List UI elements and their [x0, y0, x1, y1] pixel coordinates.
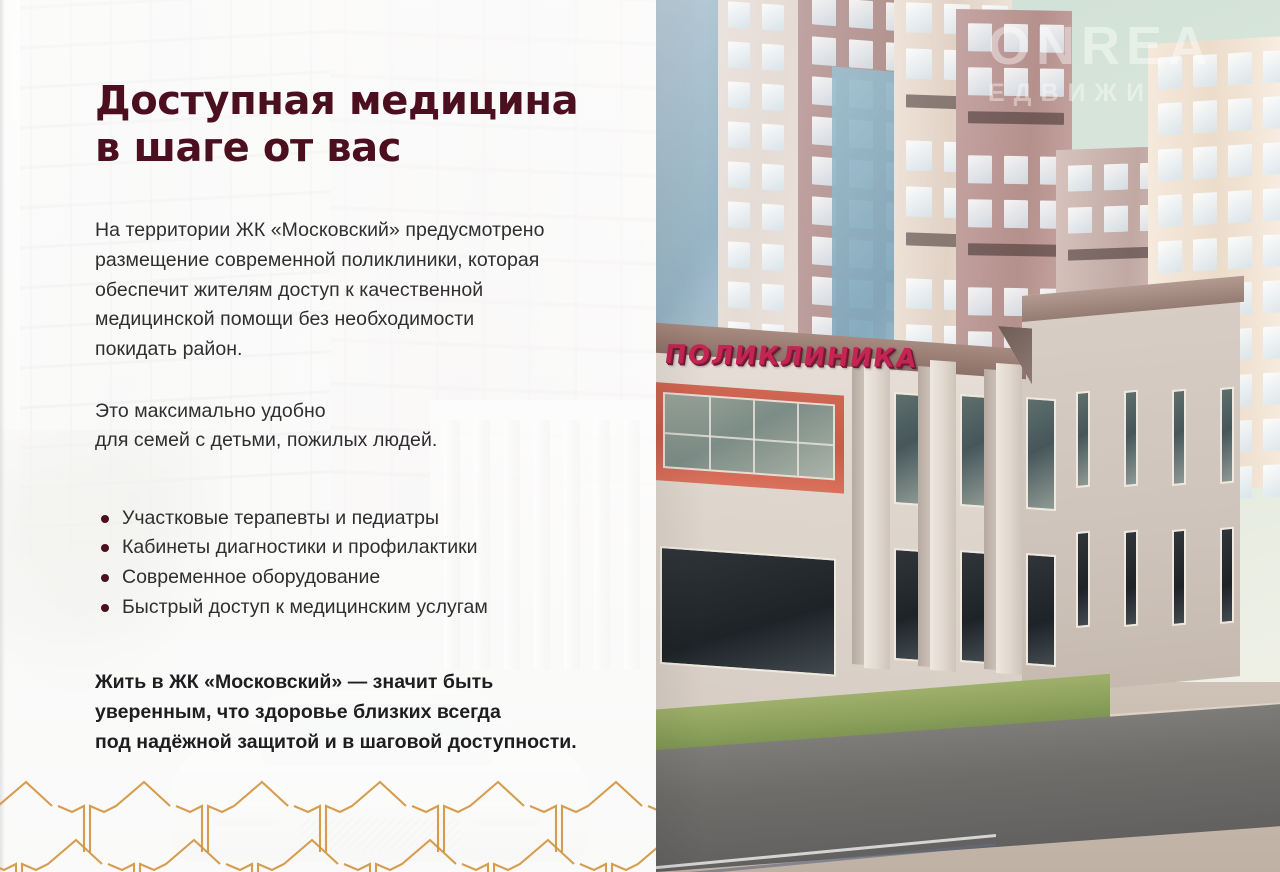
window-mullion	[709, 397, 711, 469]
clinic-showcase-window	[663, 392, 835, 480]
list-item: Участковые терапевты и педиатры	[95, 504, 616, 534]
list-item: Кабинеты диагностики и профилактики	[95, 533, 616, 563]
text-content: Доступная медицина в шаге от вас На терр…	[0, 0, 656, 757]
list-item-label: Участковые терапевты и педиатры	[122, 507, 439, 529]
window	[968, 23, 992, 51]
window	[762, 204, 784, 232]
window	[1193, 192, 1217, 225]
window	[762, 244, 784, 272]
list-item: Быстрый доступ к медицинским услугам	[95, 593, 616, 623]
window	[1004, 200, 1028, 228]
window	[1193, 100, 1217, 133]
window	[849, 39, 873, 69]
window	[1004, 68, 1028, 96]
clinic-window-lower	[1026, 553, 1056, 667]
window	[968, 155, 992, 183]
convenience-paragraph: Это максимально удобно для семей с детьм…	[95, 397, 616, 456]
window	[1193, 54, 1217, 87]
window	[1263, 142, 1280, 175]
window	[1263, 188, 1280, 221]
window	[1263, 50, 1280, 83]
window	[906, 2, 932, 33]
clinic-entrance-glazing	[660, 546, 836, 677]
clinic-side-window-lower	[1076, 531, 1090, 628]
window	[1104, 164, 1128, 191]
window	[1158, 240, 1182, 273]
window-transom	[665, 432, 833, 446]
bullet-dot-icon	[101, 604, 109, 612]
window	[1158, 56, 1182, 89]
window	[762, 44, 784, 72]
window	[762, 84, 784, 112]
facade-pilaster	[930, 360, 956, 672]
window	[1040, 24, 1064, 52]
bullet-dot-icon	[101, 544, 109, 552]
clinic-render-photo: ONREA ЕДВИЖИ ПОЛИКЛИНИКА	[656, 0, 1280, 872]
window	[1228, 144, 1252, 177]
clinic-side-window-upper	[1220, 387, 1234, 484]
window	[968, 199, 992, 227]
balcony	[968, 111, 1064, 124]
window	[1158, 194, 1182, 227]
window	[849, 0, 873, 29]
bullet-dot-icon	[101, 574, 109, 582]
window	[1004, 156, 1028, 184]
feature-list: Участковые терапевты и педиатрыКабинеты …	[95, 504, 616, 623]
facade-recess	[984, 369, 996, 670]
clinic-side-window-lower	[1124, 530, 1138, 627]
closing-statement: Жить в ЖК «Московский» — значит быть уве…	[95, 668, 616, 757]
clinic-sign-text: ПОЛИКЛИНИКА	[664, 340, 918, 374]
promo-slide: Доступная медицина в шаге от вас На терр…	[0, 0, 1280, 872]
window	[906, 140, 932, 171]
window-mullion	[797, 404, 799, 476]
window	[1228, 190, 1252, 223]
facade-pilaster	[864, 358, 890, 670]
window	[812, 36, 836, 66]
facade-recess	[918, 366, 930, 667]
page-title: Доступная медицина в шаге от вас	[95, 78, 616, 172]
window	[1263, 234, 1280, 267]
clinic-window-upper	[1026, 397, 1056, 511]
list-item-label: Кабинеты диагностики и профилактики	[122, 536, 478, 558]
window-mullion	[753, 400, 755, 472]
bullet-dot-icon	[101, 515, 109, 523]
list-item-label: Быстрый доступ к медицинским услугам	[122, 596, 488, 618]
window	[906, 48, 932, 79]
clinic-side-window-upper	[1172, 388, 1186, 485]
facade-pilaster	[996, 363, 1022, 675]
clinic-side-window-upper	[1076, 391, 1090, 488]
list-item-label: Современное оборудование	[122, 566, 380, 588]
window	[728, 241, 750, 269]
facade-recess	[852, 364, 864, 665]
window	[1040, 68, 1064, 96]
left-text-panel: Доступная медицина в шаге от вас На терр…	[0, 0, 656, 872]
window	[1228, 52, 1252, 85]
window	[1068, 207, 1092, 234]
window	[1158, 148, 1182, 181]
window	[1104, 206, 1128, 233]
clinic-side-window-lower	[1172, 528, 1186, 625]
window	[1263, 96, 1280, 129]
window	[762, 164, 784, 192]
window	[762, 4, 784, 32]
window	[728, 41, 750, 69]
window	[968, 67, 992, 95]
window	[1004, 24, 1028, 52]
window	[1228, 98, 1252, 131]
intro-paragraph: На территории ЖК «Московский» предусмотр…	[95, 216, 616, 364]
window	[1068, 165, 1092, 192]
window	[728, 1, 750, 29]
list-item: Современное оборудование	[95, 563, 616, 593]
window	[1158, 102, 1182, 135]
polyclinic-building: ПОЛИКЛИНИКА	[656, 296, 1280, 726]
window	[812, 0, 836, 26]
window	[1193, 238, 1217, 271]
balcony	[968, 243, 1064, 256]
window	[728, 161, 750, 189]
window	[728, 81, 750, 109]
clinic-side-window-lower	[1220, 527, 1234, 624]
window	[906, 186, 932, 217]
window	[1193, 146, 1217, 179]
window	[728, 201, 750, 229]
window	[762, 124, 784, 152]
window	[1228, 236, 1252, 269]
window	[728, 121, 750, 149]
clinic-side-window-upper	[1124, 390, 1138, 487]
